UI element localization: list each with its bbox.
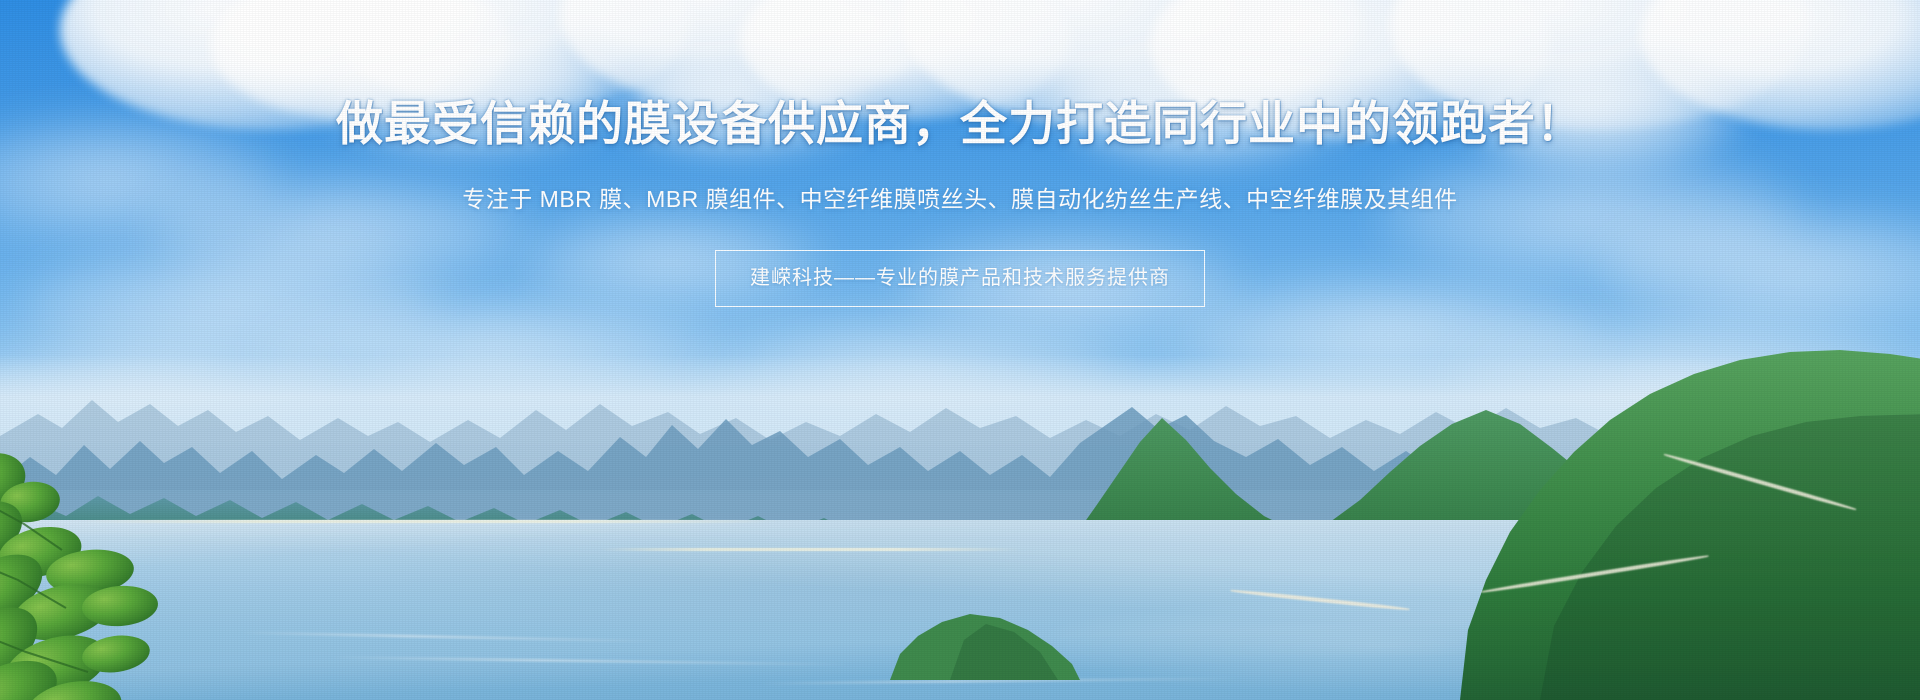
banner-subtitle: 专注于 MBR 膜、MBR 膜组件、中空纤维膜喷丝头、膜自动化纺丝生产线、中空纤…: [0, 147, 1920, 214]
left-foreground-foliage: [0, 440, 200, 700]
boat-wake: [330, 656, 850, 665]
hero-banner: 做最受信赖的膜设备供应商，全力打造同行业中的领跑者！ 专注于 MBR 膜、MBR…: [0, 0, 1920, 700]
tagline-container: 建嵘科技——专业的膜产品和技术服务提供商: [0, 214, 1920, 307]
boat-wake: [240, 632, 660, 643]
right-headland: [1210, 300, 1920, 700]
banner-headline: 做最受信赖的膜设备供应商，全力打造同行业中的领跑者！: [0, 0, 1920, 147]
tagline-box: 建嵘科技——专业的膜产品和技术服务提供商: [715, 250, 1205, 307]
shoreline: [600, 548, 1020, 551]
lake-islet: [890, 590, 1080, 680]
banner-content: 做最受信赖的膜设备供应商，全力打造同行业中的领跑者！ 专注于 MBR 膜、MBR…: [0, 0, 1920, 307]
